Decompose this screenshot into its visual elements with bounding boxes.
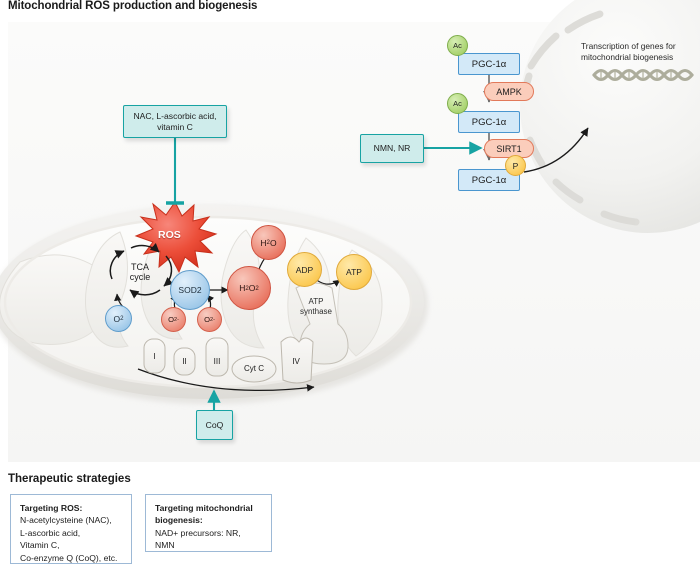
targeting-biogenesis-title-2: biogenesis: xyxy=(155,515,203,525)
targeting-ros-box: Targeting ROS: N-acetylcysteine (NAC), L… xyxy=(10,494,132,564)
targeting-ros-line-1: N-acetylcysteine (NAC), xyxy=(20,515,112,525)
complex-iii-label: III xyxy=(206,357,228,366)
oxygen-node: O2 xyxy=(105,305,132,332)
adp-node: ADP xyxy=(287,252,322,287)
pgc1a-node-1: PGC-1α xyxy=(458,53,520,75)
therapeutic-strategies-heading: Therapeutic strategies xyxy=(8,473,131,485)
water-node: H2O xyxy=(251,225,286,260)
superoxide-node-1: O2- xyxy=(161,307,186,332)
antioxidant-box[interactable]: NAC, L-ascorbic acid, vitamin C xyxy=(123,105,227,138)
targeting-ros-title: Targeting ROS: xyxy=(20,503,82,513)
complex-iv-label: IV xyxy=(285,357,307,366)
superoxide-node-2: O2- xyxy=(197,307,222,332)
acetyl-badge-2: Ac xyxy=(447,93,468,114)
atp-synthase-label: ATP synthase xyxy=(294,297,338,316)
atp-node: ATP xyxy=(336,254,372,290)
complex-i-label: I xyxy=(144,352,165,361)
antioxidant-inhibition-connector xyxy=(166,138,184,203)
complex-ii-label: II xyxy=(174,357,195,366)
targeting-ros-line-2: L-ascorbic acid, xyxy=(20,528,80,538)
ampk-node: AMPK xyxy=(484,82,534,101)
targeting-ros-line-3: Vitamin C, xyxy=(20,540,59,550)
nucleus-shape xyxy=(520,0,700,233)
phospho-badge: P xyxy=(505,155,526,176)
sirt1-node: SIRT1 xyxy=(484,139,534,158)
targeting-biogenesis-box: Targeting mitochondrial biogenesis: NAD+… xyxy=(145,494,272,552)
cytc-label: Cyt C xyxy=(233,364,275,373)
targeting-biogenesis-line-1: NAD+ precursors: NR, xyxy=(155,528,241,538)
hydrogen-peroxide-node: H2O2 xyxy=(227,266,271,310)
nad-precursor-box[interactable]: NMN, NR xyxy=(360,134,424,163)
ros-label: ROS xyxy=(158,229,181,241)
tca-cycle-label: TCA cycle xyxy=(117,262,163,283)
coq-box[interactable]: CoQ xyxy=(196,410,233,440)
sod2-node: SOD2 xyxy=(170,270,210,310)
nucleus-caption: Transcription of genes for mitochondrial… xyxy=(581,41,700,62)
pgc1a-node-2: PGC-1α xyxy=(458,111,520,133)
targeting-biogenesis-title-1: Targeting mitochondrial xyxy=(155,503,253,513)
targeting-ros-line-4: Co-enzyme Q (CoQ), etc. xyxy=(20,553,117,563)
acetyl-badge-1: Ac xyxy=(447,35,468,56)
targeting-biogenesis-line-2: NMN xyxy=(155,540,175,550)
